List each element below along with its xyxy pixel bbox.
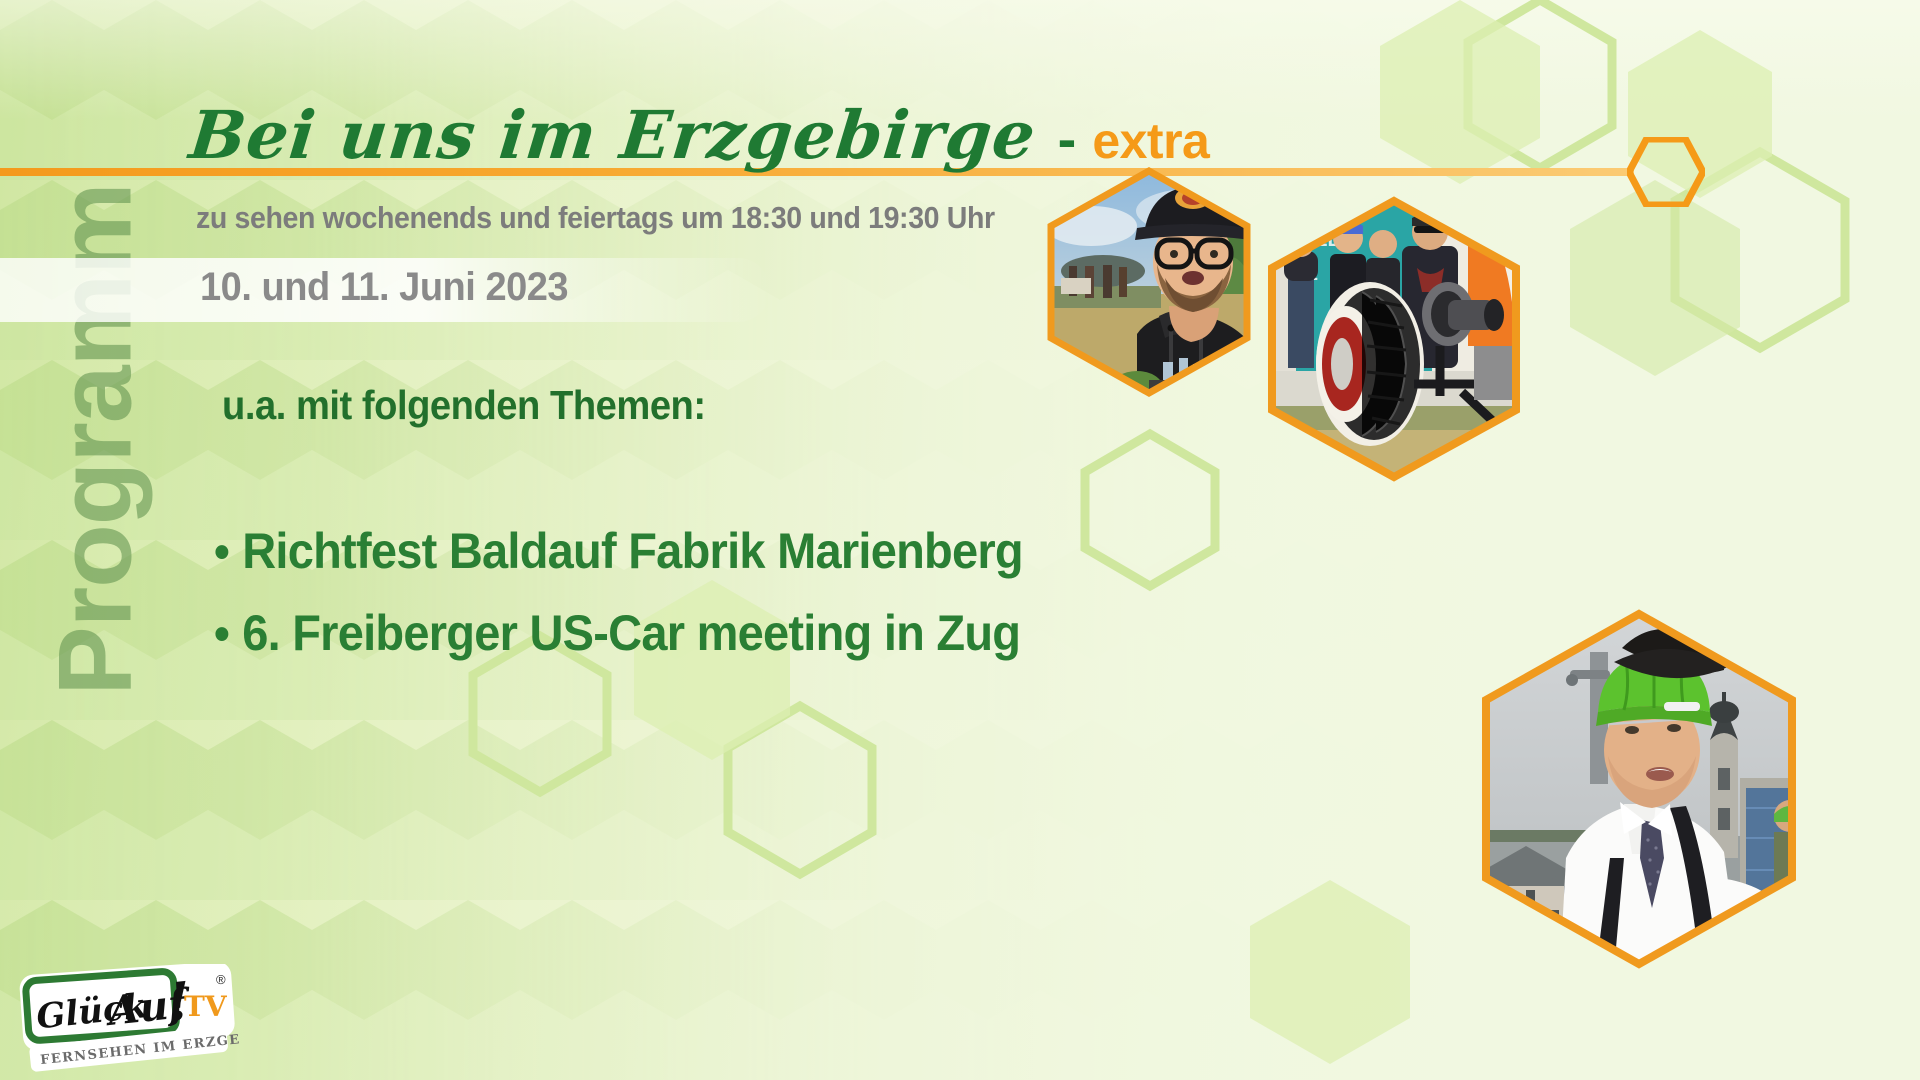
- photo-us-car-wheel: TEL E 73 Str.: [1262, 196, 1526, 482]
- bullet-icon: •: [214, 611, 229, 659]
- list-item: • Richtfest Baldauf Fabrik Marienberg: [214, 522, 1023, 580]
- photo-interview-us-car-visitor: reiber: [1041, 166, 1257, 398]
- topics-list: • Richtfest Baldauf Fabrik Marienberg • …: [214, 522, 1075, 686]
- title-extra-badge: extra: [1092, 112, 1209, 170]
- page-title: Bei uns im Erzgebirge - extra: [190, 96, 1209, 174]
- bullet-icon: •: [214, 529, 229, 577]
- list-item-label: 6. Freiberger US-Car meeting in Zug: [242, 604, 1020, 662]
- orange-hexagon-endcap: [1627, 137, 1705, 207]
- topics-heading: u.a. mit folgenden Themen:: [222, 382, 706, 429]
- title-dash: -: [1036, 106, 1093, 171]
- broadcast-times-subtitle: zu sehen wochenends und feiertags um 18:…: [196, 200, 995, 236]
- title-script-text: Bei uns im Erzgebirge: [186, 96, 1040, 174]
- photo-richtfest-zimmermann: [1474, 608, 1804, 970]
- broadcast-slide: Programm Bei uns im Erzgebirge - extra z…: [0, 0, 1920, 1080]
- broadcast-date: 10. und 11. Juni 2023: [200, 265, 568, 310]
- logo-registered-mark: ®: [216, 972, 226, 987]
- list-item-label: Richtfest Baldauf Fabrik Marienberg: [242, 522, 1023, 580]
- glueckauf-tv-logo: Glück Auf ! TV ® FERNSEHEN IM ERZGEBIRGE: [18, 964, 240, 1072]
- logo-tv-text: TV: [184, 990, 228, 1023]
- list-item: • 6. Freiberger US-Car meeting in Zug: [214, 604, 1023, 662]
